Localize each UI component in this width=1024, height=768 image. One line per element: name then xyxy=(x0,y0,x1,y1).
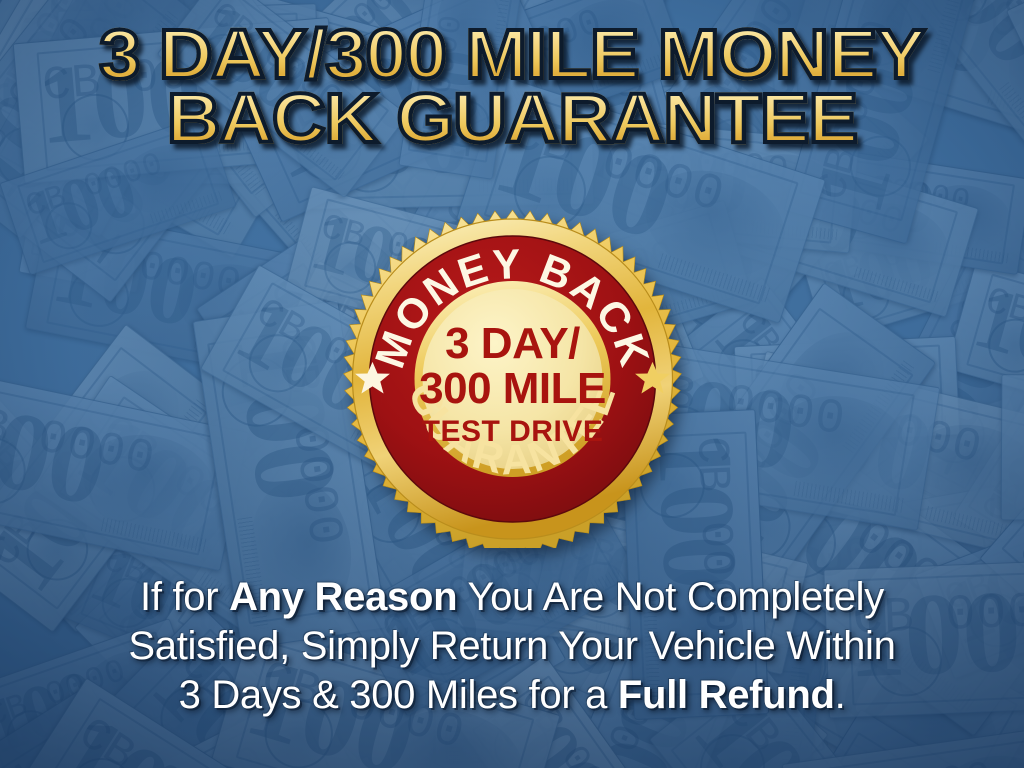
seal-center-line-2: 300 MILE xyxy=(419,364,606,413)
promise-emphasis-any-reason: Any Reason xyxy=(229,575,457,619)
promise-line-3-part-a: 3 Days & 300 Miles for a xyxy=(179,673,618,717)
headline-line-2: BACK GUARANTEE xyxy=(0,86,1024,150)
promise-emphasis-full-refund: Full Refund xyxy=(618,673,835,717)
promise-line-1: If for Any Reason You Are Not Completely xyxy=(0,573,1024,622)
seal-center-line-3: TEST DRIVE xyxy=(422,415,604,448)
promise-line-3-part-c: . xyxy=(835,673,846,717)
seal-center-line-1: 3 DAY/ xyxy=(445,319,580,368)
promise-line-3: 3 Days & 300 Miles for a Full Refund. xyxy=(0,671,1024,720)
money-back-guarantee-seal: MONEY BACK GUARANTEE 3 DAY/ 300 MILE TES… xyxy=(340,203,685,548)
promise-line-2: Satisfied, Simply Return Your Vehicle Wi… xyxy=(0,622,1024,671)
promise-line-1-part-c: You Are Not Completely xyxy=(457,575,884,619)
promise-line-1-part-a: If for xyxy=(140,575,229,619)
guarantee-promise-text: If for Any Reason You Are Not Completely… xyxy=(0,573,1024,719)
headline: 3 DAY/300 MILE MONEY BACK GUARANTEE xyxy=(0,22,1024,151)
promo-banner: 100CB 0000100CB 0000100CB 0000100CB 0000… xyxy=(0,0,1024,768)
headline-line-1: 3 DAY/300 MILE MONEY xyxy=(0,22,1024,86)
